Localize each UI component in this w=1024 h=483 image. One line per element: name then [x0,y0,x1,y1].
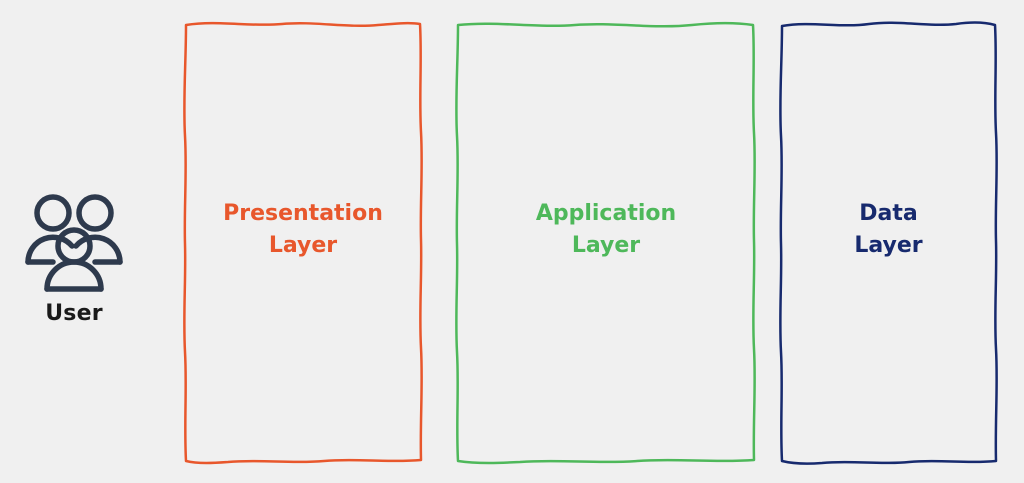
layer-box-data[interactable]: Data Layer [775,0,1002,483]
users-group-icon [22,186,126,296]
layer-box-application[interactable]: Application Layer [451,0,761,483]
actor-user-label: User [45,300,103,328]
layer-label-presentation: Presentation Layer [178,198,428,262]
diagram-canvas: User Presentation Layer Application Laye… [0,0,1024,483]
layer-box-presentation[interactable]: Presentation Layer [178,0,428,483]
layer-label-data: Data Layer [775,198,1002,262]
actor-user[interactable]: User [14,186,134,336]
layer-label-application: Application Layer [451,198,761,262]
